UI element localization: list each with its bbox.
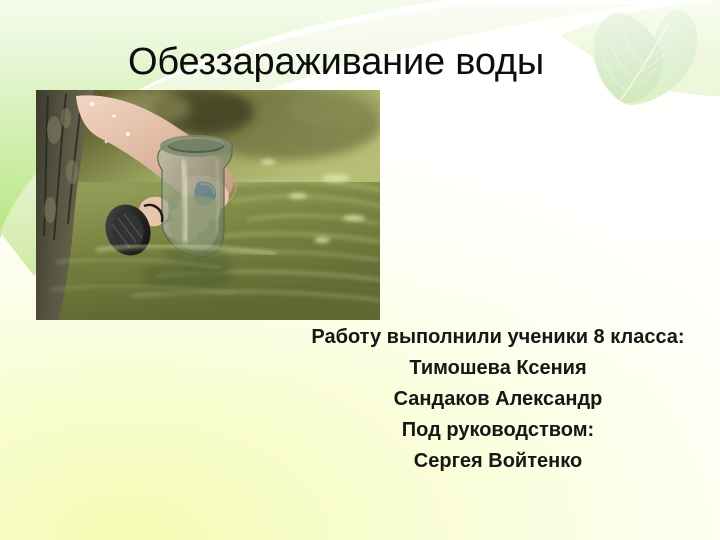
photo-frame [36,90,380,320]
presentation-slide: Обеззараживание воды [0,0,720,540]
body-line: Сергея Войтенко [278,446,718,477]
body-line: Тимошева Ксения [278,353,718,384]
slide-body-text: Работу выполнили ученики 8 класса: Тимош… [278,322,718,477]
slide-title: Обеззараживание воды [128,39,648,85]
photo-image-water-bottle [36,90,380,320]
body-line: Под руководством: [278,415,718,446]
body-line: Работу выполнили ученики 8 класса: [278,322,718,353]
slide-photo [36,90,380,320]
body-line: Сандаков Александр [278,384,718,415]
